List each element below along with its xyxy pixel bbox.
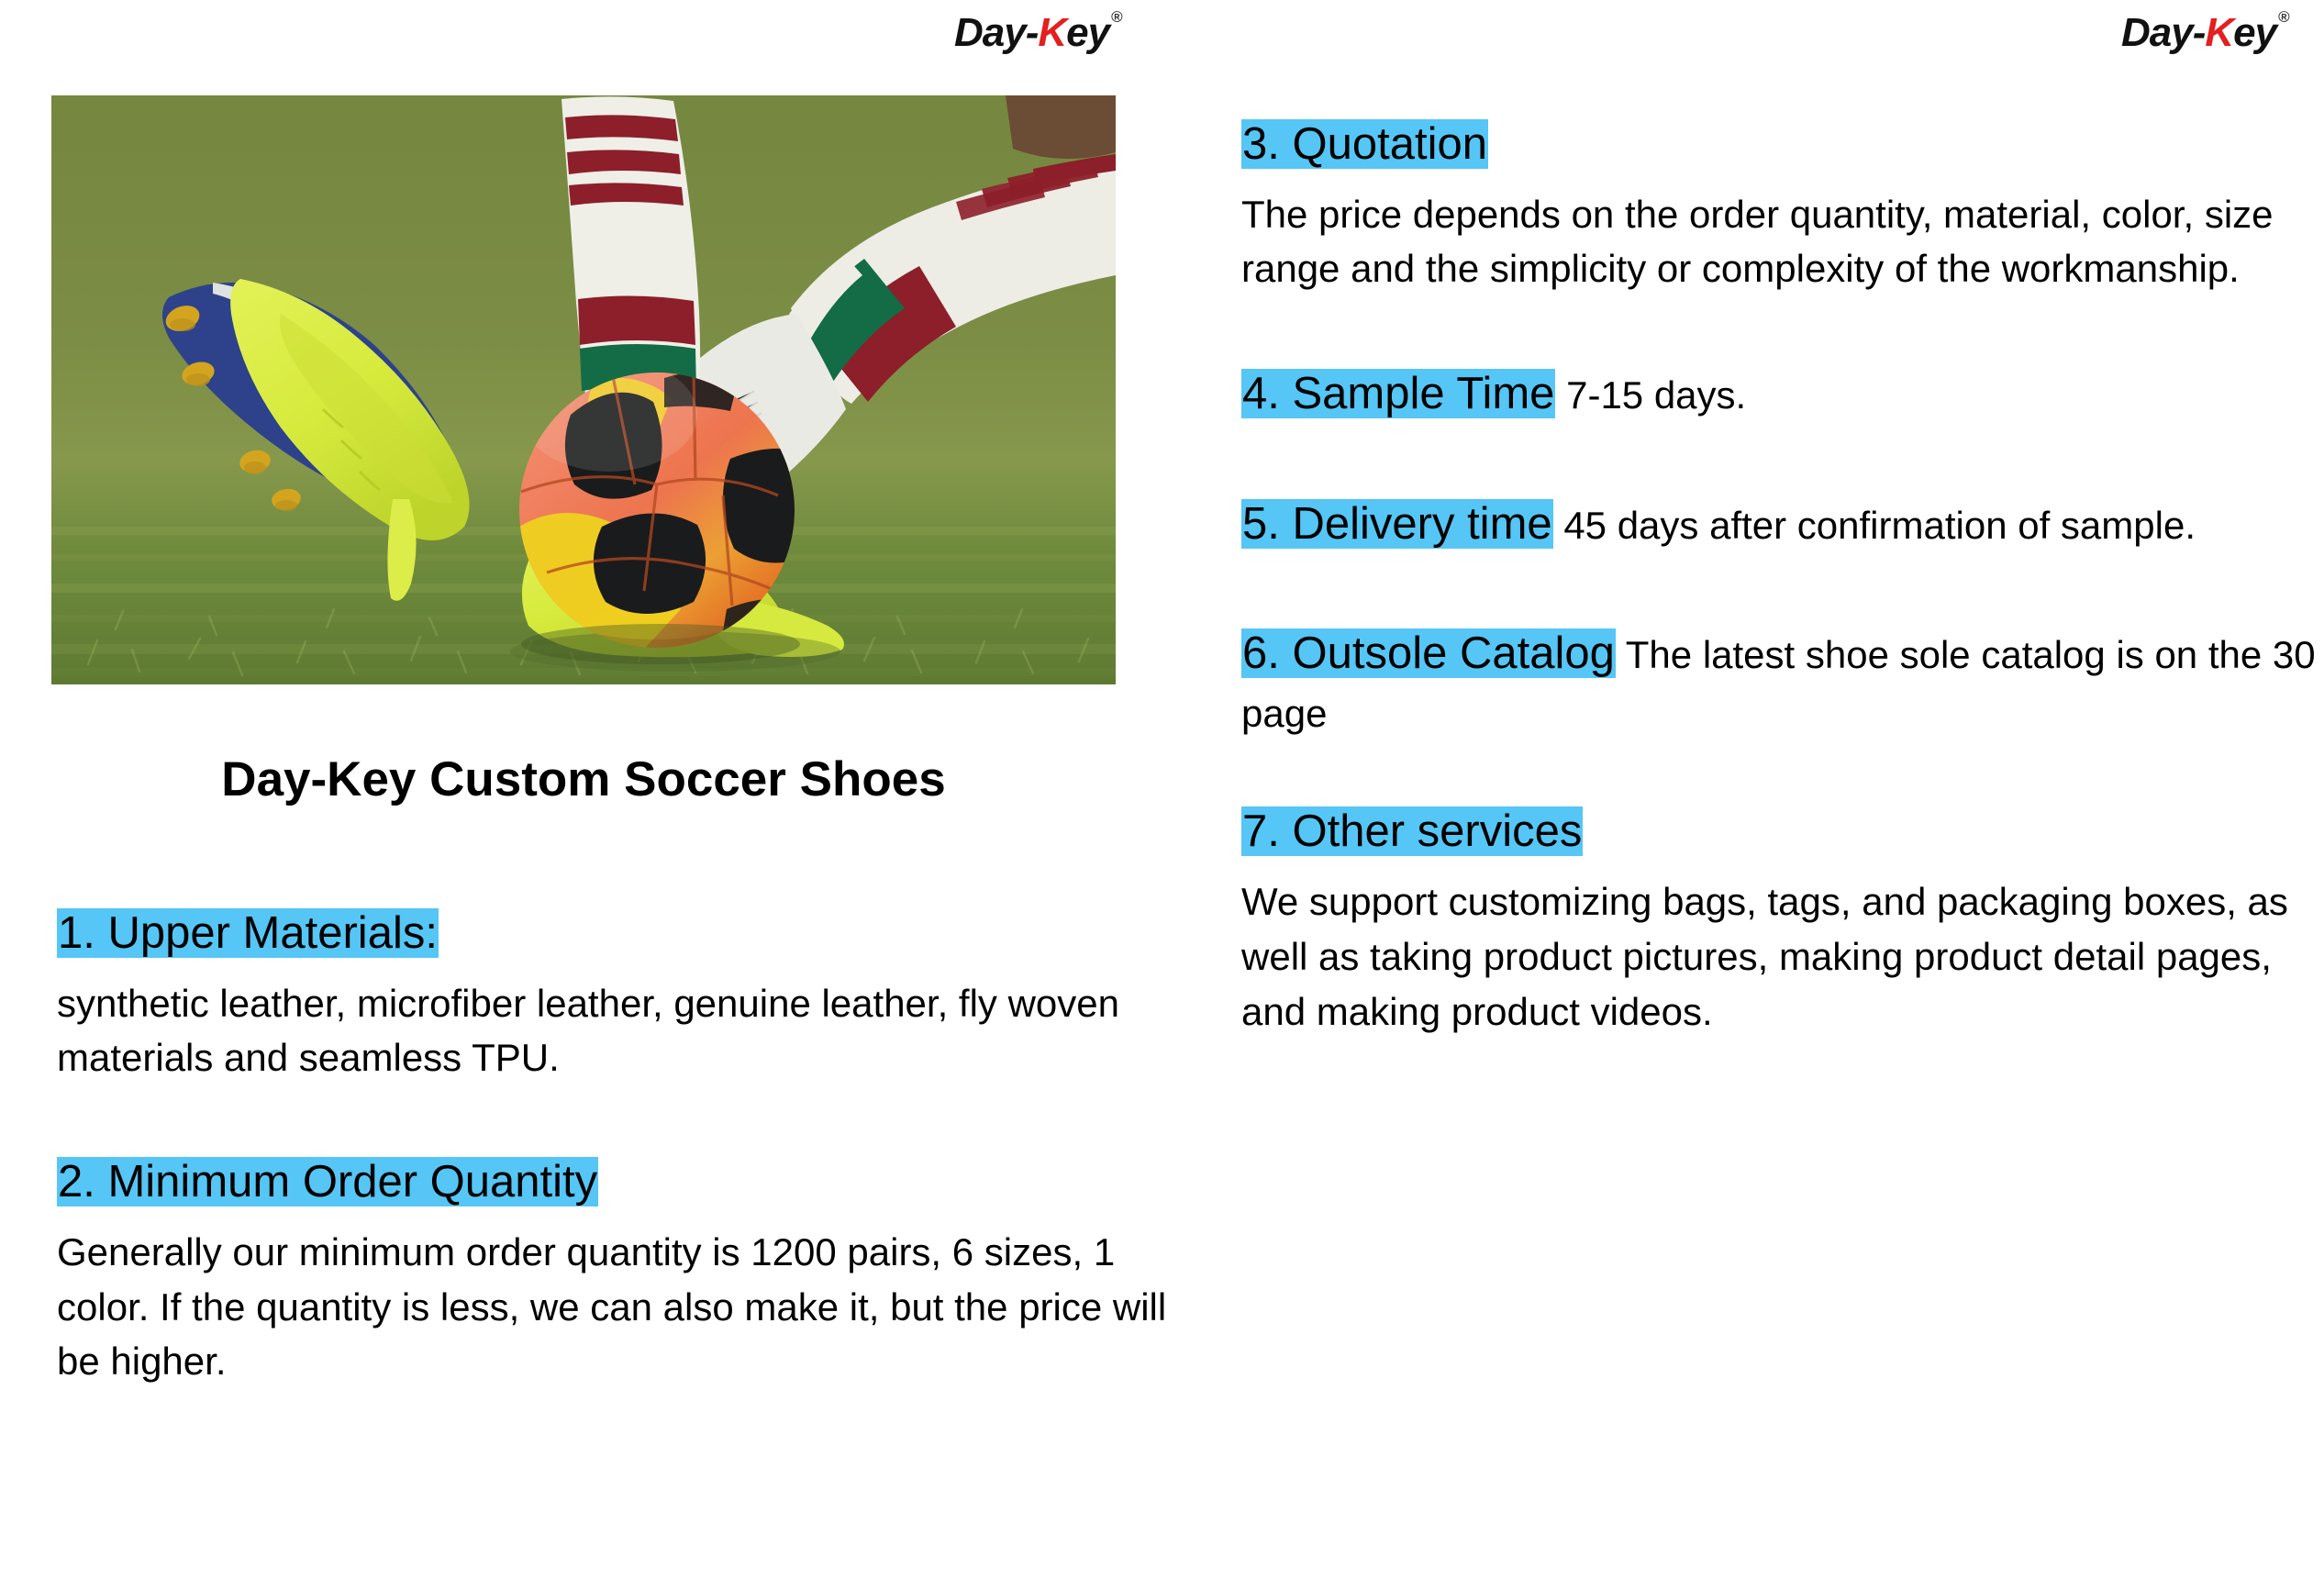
spacer: [57, 960, 1176, 976]
left-content-column: 1. Upper Materials: synthetic leather, m…: [57, 908, 1176, 1389]
section-outsole-catalog: 6. Outsole Catalog The latest shoe sole …: [1241, 622, 2319, 740]
spacer: [1241, 858, 2319, 874]
section-heading-4-text: 4. Sample Time: [1241, 369, 1555, 418]
brand-logo-text-ey: ey: [1066, 10, 1109, 55]
right-content-column: 3. Quotation The price depends on the or…: [1241, 119, 2319, 1039]
section-heading-6-text: 6. Outsole Catalog: [1241, 628, 1616, 678]
section-other-services: 7. Other services We support customizing…: [1241, 806, 2319, 1039]
section-body-2: Generally our minimum order quantity is …: [57, 1225, 1176, 1389]
section-heading-7-text: 7. Other services: [1241, 806, 1583, 856]
section-body-7: We support customizing bags, tags, and p…: [1241, 874, 2319, 1039]
section-delivery-time: 5. Delivery time 45 days after confirmat…: [1241, 493, 2319, 557]
section-body-1: synthetic leather, microfiber leather, g…: [57, 976, 1176, 1085]
section-heading-2: 2. Minimum Order Quantity: [57, 1157, 1176, 1208]
spacer: [1241, 556, 2319, 622]
soccer-photo-illustration: [51, 95, 1116, 684]
spacer: [57, 1085, 1176, 1157]
brand-logo-text-k: K: [2205, 10, 2233, 55]
spacer: [57, 1208, 1176, 1225]
spacer: [1241, 427, 2319, 493]
brand-logo-text-day: Day-: [954, 10, 1038, 55]
brand-logo-left: Day-Key®: [954, 13, 1120, 53]
section-body-5: 45 days after confirmation of sample.: [1563, 504, 2196, 547]
product-hero-photo: [51, 95, 1116, 684]
section-heading-1: 1. Upper Materials:: [57, 908, 1176, 960]
section-body-4: 7-15 days.: [1566, 373, 1746, 417]
brand-logo-text-day: Day-: [2121, 10, 2205, 55]
section-heading-1-text: 1. Upper Materials:: [57, 908, 439, 958]
spacer: [1241, 740, 2319, 806]
brand-logo-text-ey: ey: [2233, 10, 2276, 55]
section-quotation: 3. Quotation The price depends on the or…: [1241, 119, 2319, 296]
section-heading-7: 7. Other services: [1241, 806, 2319, 858]
section-upper-materials: 1. Upper Materials: synthetic leather, m…: [57, 908, 1176, 1085]
registered-trademark-icon: ®: [1111, 8, 1122, 26]
section-heading-3-text: 3. Quotation: [1241, 119, 1488, 169]
section-sample-time: 4. Sample Time 7-15 days.: [1241, 362, 2319, 427]
registered-trademark-icon: ®: [2278, 8, 2289, 26]
spacer: [1241, 171, 2319, 187]
section-body-3: The price depends on the order quantity,…: [1241, 187, 2319, 296]
spacer: [1241, 296, 2319, 362]
section-heading-2-text: 2. Minimum Order Quantity: [57, 1157, 598, 1206]
brand-logo-right: Day-Key®: [2121, 13, 2287, 53]
brand-logo-text-k: K: [1038, 10, 1066, 55]
section-minimum-order-quantity: 2. Minimum Order Quantity Generally our …: [57, 1157, 1176, 1389]
product-title: Day-Key Custom Soccer Shoes: [51, 752, 1116, 808]
section-heading-5-text: 5. Delivery time: [1241, 499, 1553, 549]
section-heading-3: 3. Quotation: [1241, 119, 2319, 171]
